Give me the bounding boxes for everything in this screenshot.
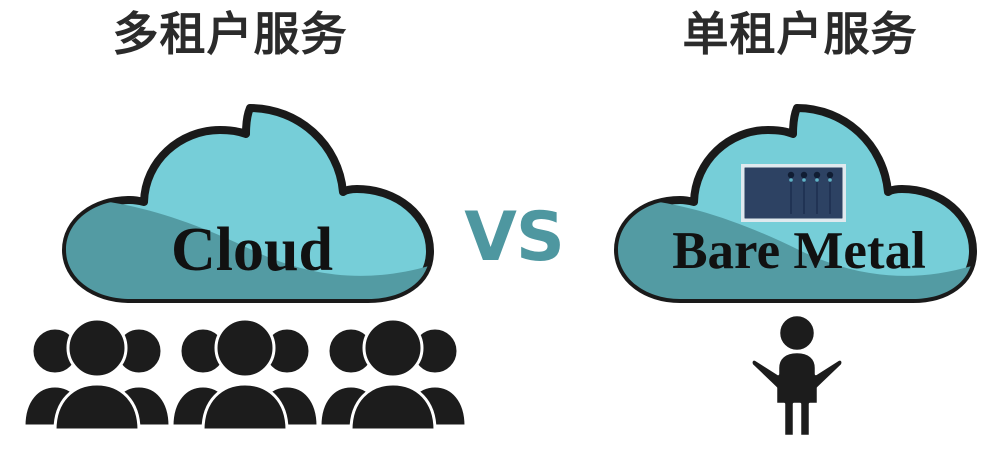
people-group-icon — [318, 318, 468, 430]
multi-tenant-users-row — [0, 318, 497, 438]
cloud-left-label: Cloud — [52, 217, 452, 283]
left-panel-title: 多租户服务 — [0, 6, 460, 62]
server-rack-icon — [741, 164, 846, 222]
comparison-graphic: 多租户服务 单租户服务 VS Cloud — [0, 0, 994, 455]
cloud-right-label: Bare Metal — [604, 222, 994, 280]
versus-label: VS — [462, 202, 566, 274]
person-body — [752, 352, 842, 436]
person-head — [779, 315, 815, 351]
people-group-icon — [22, 318, 172, 430]
right-panel-title: 单租户服务 — [560, 6, 994, 62]
cloud-left: Cloud — [52, 100, 452, 305]
cloud-right: Bare Metal — [604, 100, 994, 305]
single-person-icon — [752, 312, 842, 440]
people-group-icon — [170, 318, 320, 430]
